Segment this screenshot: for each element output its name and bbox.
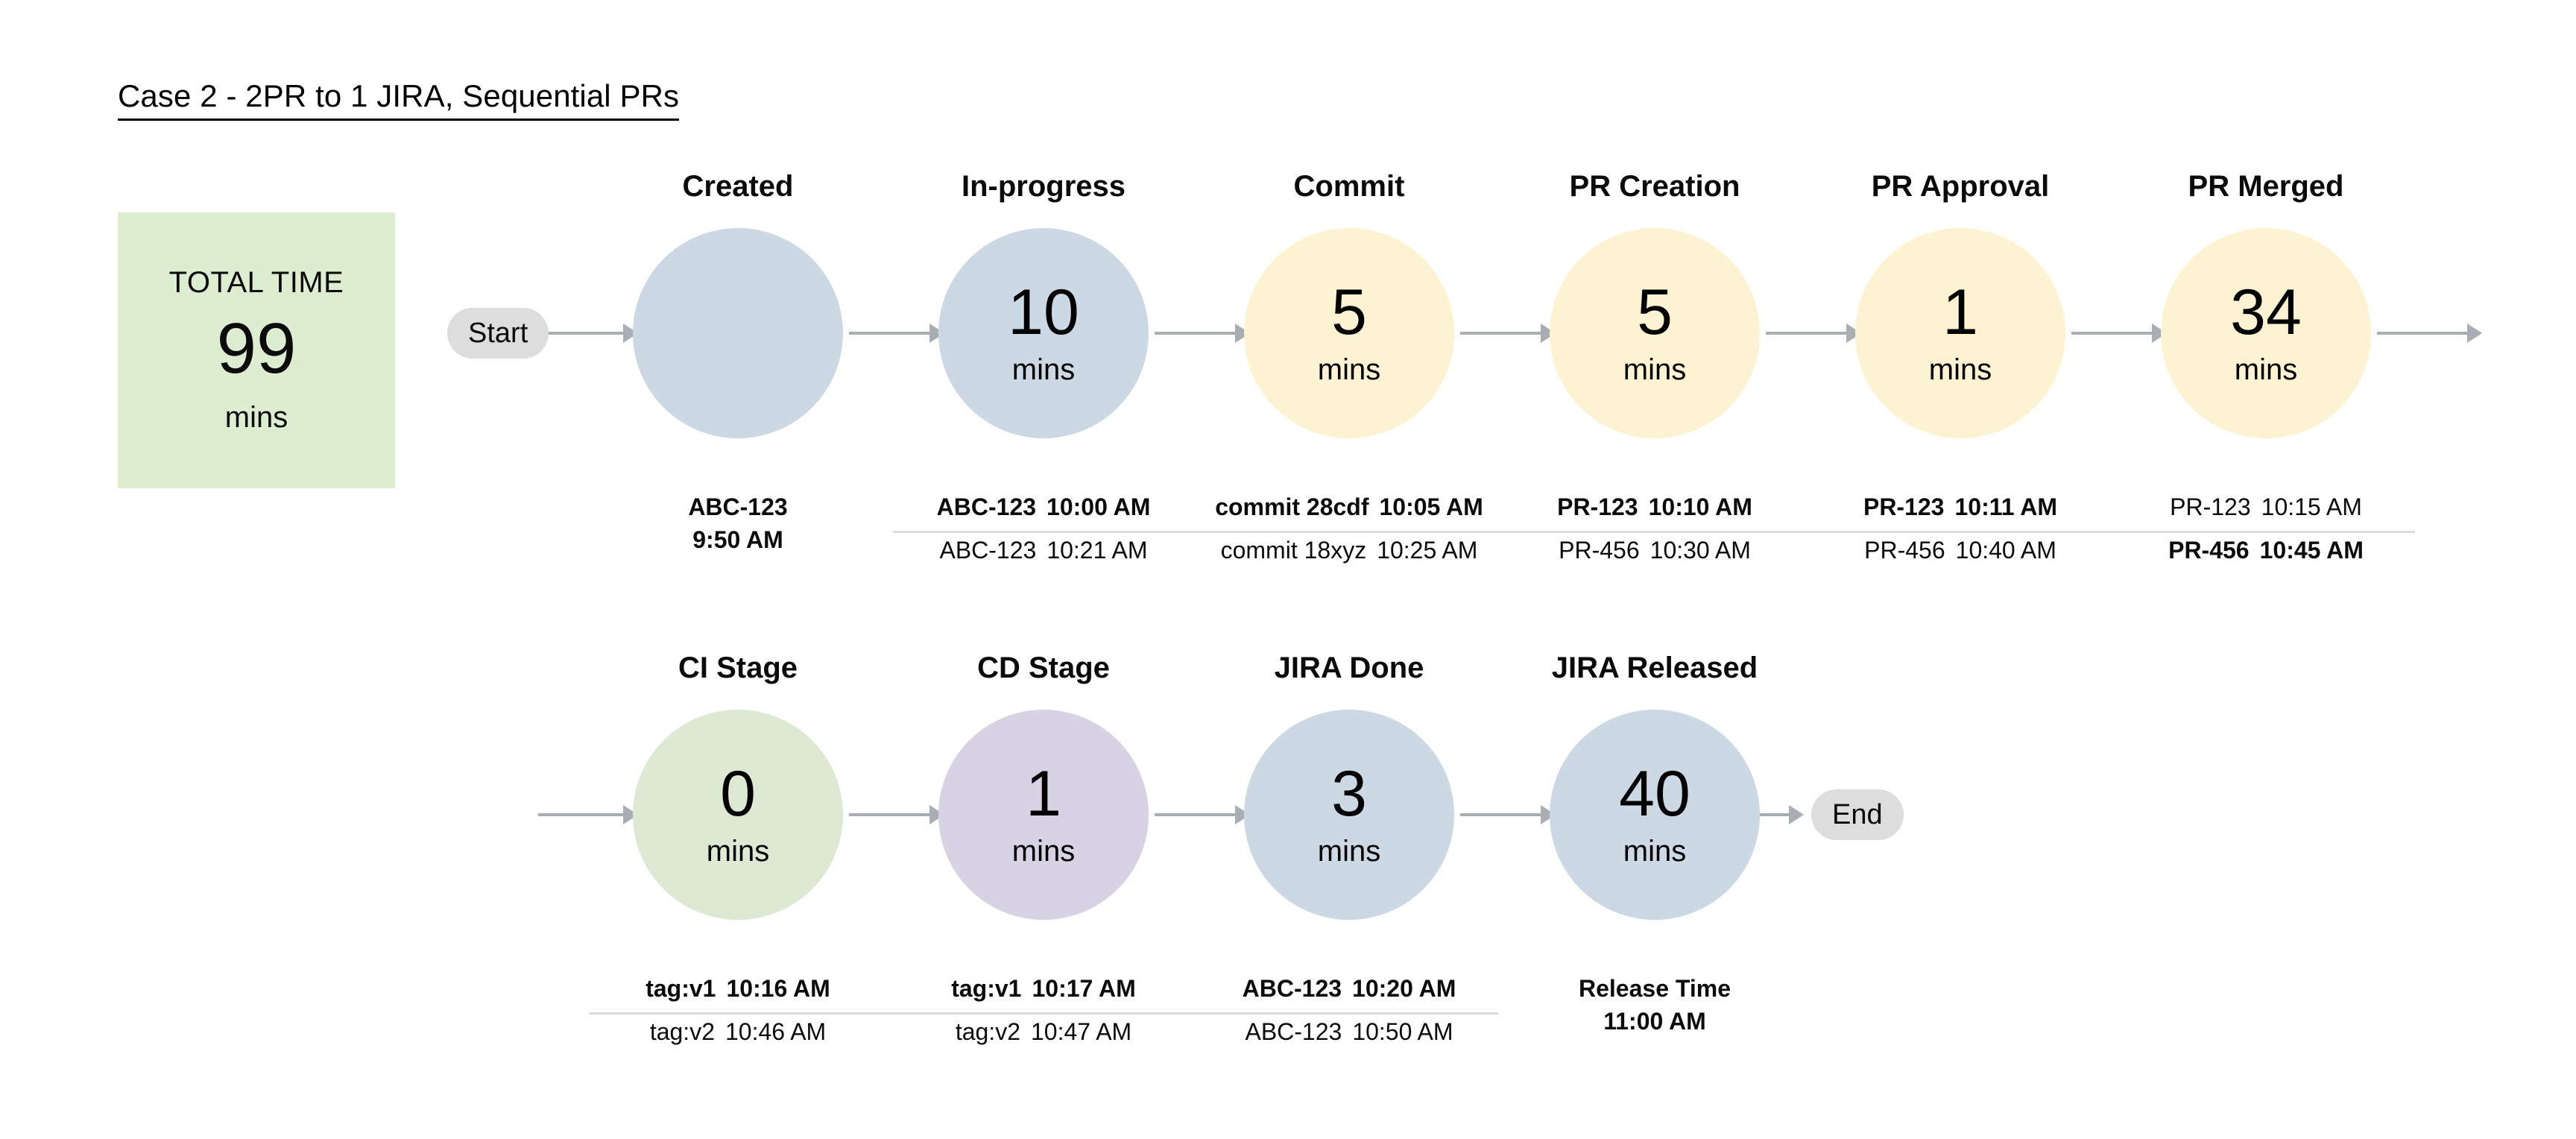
stage-duration-bubble[interactable]: 5mins — [1550, 228, 1760, 438]
stage-duration-bubble[interactable]: 34mins — [2161, 228, 2371, 438]
caption-identifier: Release Time — [1498, 972, 1811, 1005]
stage-duration-bubble[interactable]: 0mins — [633, 710, 843, 920]
flow-connector-line — [2071, 332, 2152, 335]
stage-header: JIRA Done — [1275, 653, 1424, 689]
caption-timestamp: 10:05 AM — [1379, 495, 1483, 519]
stage-duration-value: 3 — [1331, 762, 1367, 826]
caption-entry: tag:v210:47 AM — [887, 1015, 1200, 1048]
stage-duration-bubble[interactable]: 10mins — [938, 228, 1149, 438]
caption-timestamp: 10:30 AM — [1650, 538, 1751, 562]
stage-header: PR Merged — [2188, 171, 2344, 207]
page-title: Case 2 - 2PR to 1 JIRA, Sequential PRs — [118, 78, 679, 121]
stage-duration-value: 5 — [1637, 280, 1673, 344]
caption-identifier: PR-123 — [1557, 495, 1638, 519]
stage-duration-value: 5 — [1331, 280, 1367, 344]
caption-entry: PR-45610:30 AM — [1498, 534, 1811, 567]
stage-duration-value: 10 — [1008, 280, 1079, 344]
stage-caption: ABC-1239:50 AM — [581, 490, 894, 556]
stage-commit[interactable]: Commit5mins — [1237, 171, 1461, 438]
stage-duration-bubble[interactable]: 3mins — [1244, 710, 1454, 920]
caption-timestamp: 10:47 AM — [1031, 1020, 1131, 1044]
flow-connector-line — [1460, 813, 1541, 816]
stage-pr-creation[interactable]: PR Creation5mins — [1543, 171, 1767, 438]
stage-caption: ABC-12310:20 AMABC-12310:50 AM — [1193, 972, 1506, 1048]
stage-caption: PR-12310:15 AMPR-45610:45 AM — [2109, 490, 2422, 567]
stage-header: Created — [683, 171, 794, 207]
caption-identifier: ABC-123 — [1243, 976, 1342, 1000]
stage-duration-bubble[interactable]: 40mins — [1550, 710, 1760, 920]
flow-arrow-icon — [2467, 324, 2482, 343]
total-time-value: 99 — [217, 313, 297, 385]
stage-pr-merged[interactable]: PR Merged34mins — [2154, 171, 2378, 438]
flow-connector-line — [2377, 332, 2467, 335]
total-time-card: TOTAL TIME 99 mins — [118, 212, 395, 488]
stage-duration-unit: mins — [1012, 835, 1075, 868]
caption-identifier: ABC-123 — [1245, 1020, 1342, 1044]
flow-connector-line — [849, 332, 929, 335]
stage-header: Commit — [1294, 171, 1405, 207]
stage-header: PR Approval — [1872, 171, 2050, 207]
flow-connector-line — [1766, 332, 1846, 335]
caption-identifier: PR-456 — [2168, 538, 2250, 562]
caption-entry: ABC-12310:21 AM — [887, 534, 1200, 567]
caption-timestamp: 10:46 AM — [725, 1020, 826, 1044]
caption-identifier: PR-456 — [1864, 538, 1945, 562]
stage-in-progress[interactable]: In-progress10mins — [932, 171, 1155, 438]
caption-timestamp: 11:00 AM — [1498, 1005, 1811, 1038]
caption-entry: ABC-12310:50 AM — [1193, 1015, 1506, 1048]
caption-timestamp: 9:50 AM — [581, 523, 894, 556]
flow-connector-line — [1460, 332, 1541, 335]
caption-entry: PR-12310:10 AM — [1498, 490, 1811, 523]
flow-connector-line — [1155, 813, 1235, 816]
caption-timestamp: 10:00 AM — [1046, 495, 1150, 519]
caption-timestamp: 10:11 AM — [1954, 495, 2057, 519]
caption-entry: ABC-12310:20 AM — [1193, 972, 1506, 1005]
caption-identifier: PR-456 — [1559, 538, 1640, 562]
caption-timestamp: 10:17 AM — [1032, 976, 1135, 1000]
caption-entry: commit 28cdf10:05 AM — [1193, 490, 1506, 523]
start-pill[interactable]: Start — [447, 308, 549, 359]
caption-entry: PR-12310:11 AM — [1804, 490, 2117, 523]
caption-timestamp: 10:40 AM — [1956, 538, 2056, 562]
caption-identifier: PR-123 — [1863, 495, 1945, 519]
caption-entry: commit 18xyz10:25 AM — [1193, 534, 1506, 567]
stage-created[interactable]: Created — [626, 171, 850, 438]
stage-header: In-progress — [962, 171, 1126, 207]
caption-timestamp: 10:25 AM — [1377, 538, 1477, 562]
stage-pr-approval[interactable]: PR Approval1mins — [1849, 171, 2072, 438]
caption-identifier: ABC-123 — [937, 495, 1036, 519]
stage-cd-stage[interactable]: CD Stage1mins — [932, 653, 1155, 920]
caption-entry: tag:v110:17 AM — [887, 972, 1200, 1005]
caption-identifier: PR-123 — [2170, 495, 2251, 519]
caption-identifier: ABC-123 — [939, 538, 1036, 562]
stage-duration-bubble[interactable] — [633, 228, 843, 438]
caption-identifier: ABC-123 — [581, 490, 894, 523]
caption-timestamp: 10:16 AM — [726, 976, 830, 1000]
total-time-unit: mins — [225, 401, 288, 435]
end-pill[interactable]: End — [1811, 789, 1904, 840]
stage-duration-bubble[interactable]: 5mins — [1244, 228, 1454, 438]
stage-duration-bubble[interactable]: 1mins — [1855, 228, 2065, 438]
stage-duration-value: 1 — [1026, 762, 1061, 826]
caption-timestamp: 10:15 AM — [2261, 495, 2362, 519]
stage-duration-unit: mins — [1929, 353, 1992, 387]
stage-ci-stage[interactable]: CI Stage0mins — [626, 653, 850, 920]
stage-duration-value: 34 — [2230, 280, 2302, 344]
total-time-label: TOTAL TIME — [169, 266, 344, 300]
stage-duration-unit: mins — [1012, 353, 1075, 387]
stage-duration-unit: mins — [1623, 835, 1686, 868]
stage-duration-unit: mins — [1318, 353, 1380, 387]
caption-entry: PR-45610:40 AM — [1804, 534, 2117, 567]
stage-duration-bubble[interactable]: 1mins — [938, 710, 1149, 920]
caption-timestamp: 10:20 AM — [1352, 976, 1456, 1000]
flow-connector-line — [538, 813, 623, 816]
caption-identifier: commit 18xyz — [1221, 538, 1367, 562]
caption-identifier: tag:v2 — [650, 1020, 715, 1044]
stage-header: CD Stage — [977, 653, 1110, 689]
caption-divider — [589, 1012, 1498, 1015]
caption-timestamp: 10:21 AM — [1046, 538, 1147, 562]
stage-duration-value: 1 — [1942, 280, 1978, 344]
stage-caption: commit 28cdf10:05 AMcommit 18xyz10:25 AM — [1193, 490, 1506, 567]
stage-duration-unit: mins — [707, 835, 769, 868]
stage-header: PR Creation — [1570, 171, 1740, 207]
stage-header: CI Stage — [678, 653, 798, 689]
caption-identifier: tag:v2 — [956, 1020, 1020, 1044]
stage-caption: tag:v110:17 AMtag:v210:47 AM — [887, 972, 1200, 1048]
flow-connector-line — [849, 813, 929, 816]
caption-identifier: commit 28cdf — [1215, 495, 1368, 519]
stage-jira-done[interactable]: JIRA Done3mins — [1237, 653, 1461, 920]
caption-timestamp: 10:50 AM — [1352, 1020, 1453, 1044]
stage-caption: ABC-12310:00 AMABC-12310:21 AM — [887, 490, 1200, 567]
caption-identifier: tag:v1 — [951, 976, 1021, 1000]
stage-caption: Release Time11:00 AM — [1498, 972, 1811, 1038]
stage-caption: PR-12310:11 AMPR-45610:40 AM — [1804, 490, 2117, 567]
caption-identifier: tag:v1 — [645, 976, 716, 1000]
flow-connector-line — [1155, 332, 1235, 335]
stage-header: JIRA Released — [1552, 653, 1758, 689]
caption-entry: tag:v110:16 AM — [581, 972, 894, 1005]
caption-timestamp: 10:45 AM — [2260, 538, 2364, 562]
flow-arrow-icon — [1789, 805, 1804, 824]
caption-entry: ABC-12310:00 AM — [887, 490, 1200, 523]
caption-divider — [893, 531, 2415, 533]
stage-duration-unit: mins — [1623, 353, 1686, 387]
stage-caption: tag:v110:16 AMtag:v210:46 AM — [581, 972, 894, 1048]
caption-entry: PR-12310:15 AM — [2109, 490, 2422, 523]
stage-caption: PR-12310:10 AMPR-45610:30 AM — [1498, 490, 1811, 567]
stage-duration-unit: mins — [2235, 353, 2297, 387]
stage-duration-value: 0 — [720, 762, 756, 826]
stage-duration-unit: mins — [1318, 835, 1380, 868]
stage-duration-value: 40 — [1619, 762, 1690, 826]
stage-jira-released[interactable]: JIRA Released40mins — [1543, 653, 1767, 920]
caption-timestamp: 10:10 AM — [1649, 495, 1752, 519]
caption-entry: PR-45610:45 AM — [2109, 534, 2422, 567]
caption-entry: tag:v210:46 AM — [581, 1015, 894, 1048]
